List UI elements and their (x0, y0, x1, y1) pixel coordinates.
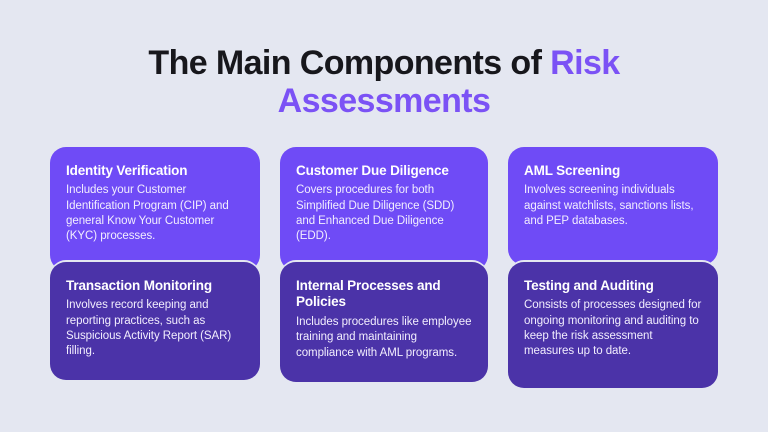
card-column-2: Customer Due Diligence Covers procedures… (280, 0, 488, 432)
card-grid: Identity Verification Includes your Cust… (0, 0, 768, 432)
card-body: Involves screening individuals against w… (524, 183, 702, 229)
card-title: Customer Due Diligence (296, 163, 472, 179)
card-testing-and-auditing: Testing and Auditing Consists of process… (508, 262, 718, 388)
card-body: Covers procedures for both Simplified Du… (296, 183, 472, 244)
card-body: Includes procedures like employee traini… (296, 315, 472, 361)
card-identity-verification: Identity Verification Includes your Cust… (50, 147, 260, 271)
card-body: Consists of processes designed for ongoi… (524, 298, 702, 359)
card-title: Identity Verification (66, 163, 244, 179)
card-customer-due-diligence: Customer Due Diligence Covers procedures… (280, 147, 488, 271)
card-transaction-monitoring: Transaction Monitoring Involves record k… (50, 262, 260, 380)
card-column-3: AML Screening Involves screening individ… (508, 0, 718, 432)
card-internal-processes-and-policies: Internal Processes and Policies Includes… (280, 262, 488, 382)
card-body: Involves record keeping and reporting pr… (66, 298, 244, 359)
card-aml-screening: AML Screening Involves screening individ… (508, 147, 718, 265)
card-title: AML Screening (524, 163, 702, 179)
card-body: Includes your Customer Identification Pr… (66, 183, 244, 244)
card-title: Internal Processes and Policies (296, 278, 472, 311)
card-column-1: Identity Verification Includes your Cust… (50, 0, 260, 432)
card-title: Transaction Monitoring (66, 278, 244, 294)
card-title: Testing and Auditing (524, 278, 702, 294)
